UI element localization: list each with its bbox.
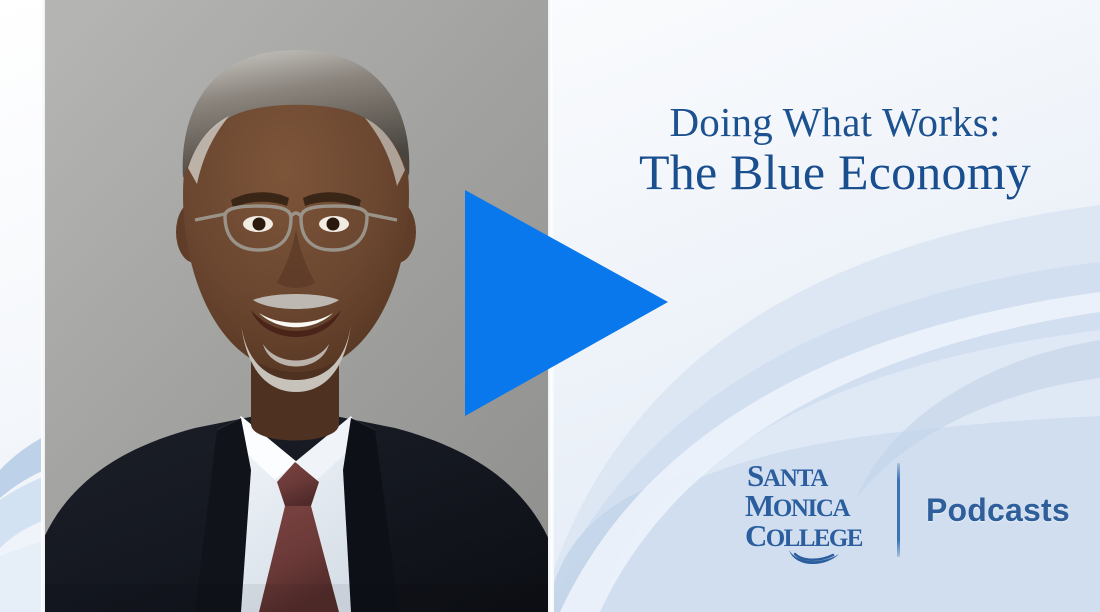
title-line-2: The Blue Economy <box>600 144 1070 200</box>
play-triangle-icon <box>465 190 668 416</box>
episode-title: Doing What Works: The Blue Economy <box>600 100 1070 200</box>
video-poster-frame: Doing What Works: The Blue Economy SANTA… <box>0 0 1100 612</box>
title-line-1: Doing What Works: <box>600 100 1070 144</box>
brand-lockup: SANTA MONICA COLLEGE Podcasts <box>745 452 1055 568</box>
santa-monica-college-logo: SANTA MONICA COLLEGE <box>745 454 875 566</box>
play-button[interactable] <box>463 186 673 422</box>
logo-line-college: COLLEGE <box>745 518 863 553</box>
brand-divider <box>897 463 900 557</box>
podcasts-label: Podcasts <box>926 492 1070 529</box>
